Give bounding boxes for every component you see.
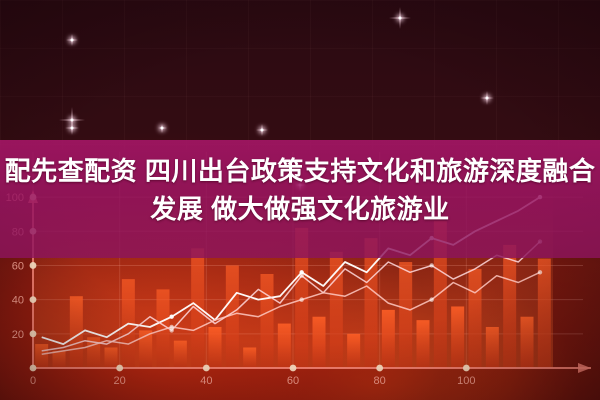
headline-line-1: 配先查配资 四川出台政策支持文化和旅游深度融合	[5, 156, 596, 186]
thumbnail-image: 20406080100020406080100 配先查配资 四川出台政策支持文化…	[0, 0, 600, 400]
page-title: 配先查配资 四川出台政策支持文化和旅游深度融合 发展 做大做强文化旅游业	[0, 152, 600, 228]
headline-line-2: 发展 做大做强文化旅游业	[0, 190, 600, 228]
